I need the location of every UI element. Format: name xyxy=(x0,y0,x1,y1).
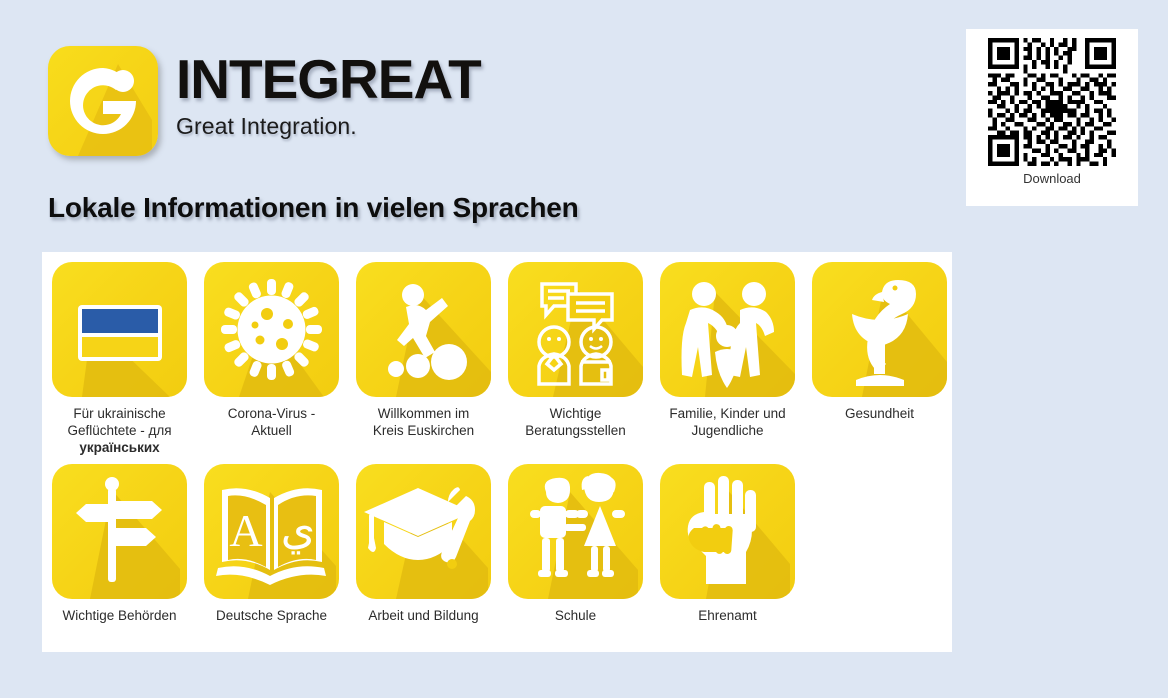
person-playing-ball-icon xyxy=(356,262,491,397)
tile-label: Für ukrainische Geflüchtete - для україн… xyxy=(67,405,171,456)
helping-hands-icon xyxy=(660,464,795,599)
tile-label: Gesundheit xyxy=(845,405,914,422)
tile-icon-box[interactable] xyxy=(204,262,339,397)
tile-behoerden[interactable]: Wichtige Behörden xyxy=(52,464,187,624)
brand-header: INTEGREAT Great Integration. xyxy=(48,46,481,156)
open-book-letters-icon: A ي xyxy=(204,464,339,599)
tile-label: Wichtige Beratungsstellen xyxy=(525,405,626,439)
category-panel: Für ukrainische Geflüchtete - для україн… xyxy=(42,252,952,652)
download-qr-card[interactable]: Download xyxy=(966,29,1138,206)
tile-ukraine[interactable]: Für ukrainische Geflüchtete - для україн… xyxy=(52,262,187,456)
page-title: Lokale Informationen in vielen Sprachen xyxy=(48,192,579,224)
tile-icon-box[interactable]: A ي xyxy=(204,464,339,599)
tile-arbeit-bildung[interactable]: Arbeit und Bildung xyxy=(356,464,491,624)
ukraine-flag-icon xyxy=(52,262,187,397)
bowl-of-hygieia-icon xyxy=(812,262,947,397)
tile-label: Arbeit und Bildung xyxy=(368,607,478,624)
tile-icon-box[interactable] xyxy=(660,464,795,599)
tile-label: Ehrenamt xyxy=(698,607,757,624)
tile-label: Familie, Kinder und Jugendliche xyxy=(669,405,785,439)
tile-willkommen[interactable]: Willkommen im Kreis Euskirchen xyxy=(356,262,491,456)
graduation-cap-wrench-icon xyxy=(356,464,491,599)
tile-gesundheit[interactable]: Gesundheit xyxy=(812,262,947,456)
tile-schule[interactable]: Schule xyxy=(508,464,643,624)
brand-name: INTEGREAT xyxy=(176,52,481,107)
tile-corona[interactable]: Corona-Virus - Aktuell xyxy=(204,262,339,456)
integreat-logo-tile[interactable] xyxy=(48,46,158,156)
tile-label: Schule xyxy=(555,607,596,624)
family-icon xyxy=(660,262,795,397)
tile-row-1: Für ukrainische Geflüchtete - для україн… xyxy=(42,252,952,456)
tile-deutsche-sprache[interactable]: A ي Deutsche Sprache xyxy=(204,464,339,624)
tile-icon-box[interactable] xyxy=(812,262,947,397)
signpost-icon xyxy=(52,464,187,599)
integreat-g-logo-icon xyxy=(48,46,158,156)
qr-code-icon xyxy=(988,38,1116,166)
brand-wordmark: INTEGREAT Great Integration. xyxy=(176,46,481,140)
tile-beratungsstellen[interactable]: Wichtige Beratungsstellen xyxy=(508,262,643,456)
tile-familie[interactable]: Familie, Kinder und Jugendliche xyxy=(660,262,795,456)
brand-tagline: Great Integration. xyxy=(176,113,481,140)
people-speech-bubbles-icon xyxy=(508,262,643,397)
tile-label: Deutsche Sprache xyxy=(216,607,327,624)
tile-ehrenamt[interactable]: Ehrenamt xyxy=(660,464,795,624)
tile-icon-box[interactable] xyxy=(52,464,187,599)
two-children-icon xyxy=(508,464,643,599)
tile-icon-box[interactable] xyxy=(52,262,187,397)
tile-label: Corona-Virus - Aktuell xyxy=(228,405,316,439)
tile-icon-box[interactable] xyxy=(356,262,491,397)
tile-icon-box[interactable] xyxy=(508,262,643,397)
svg-text:A: A xyxy=(229,505,262,556)
qr-download-label: Download xyxy=(1023,171,1081,186)
svg-text:ي: ي xyxy=(281,504,315,555)
tile-icon-box[interactable] xyxy=(660,262,795,397)
tile-label: Wichtige Behörden xyxy=(62,607,176,624)
tile-icon-box[interactable] xyxy=(356,464,491,599)
tile-row-2: Wichtige Behörden A ي xyxy=(42,456,952,624)
tile-icon-box[interactable] xyxy=(508,464,643,599)
tile-label: Willkommen im Kreis Euskirchen xyxy=(373,405,474,439)
coronavirus-icon xyxy=(204,262,339,397)
